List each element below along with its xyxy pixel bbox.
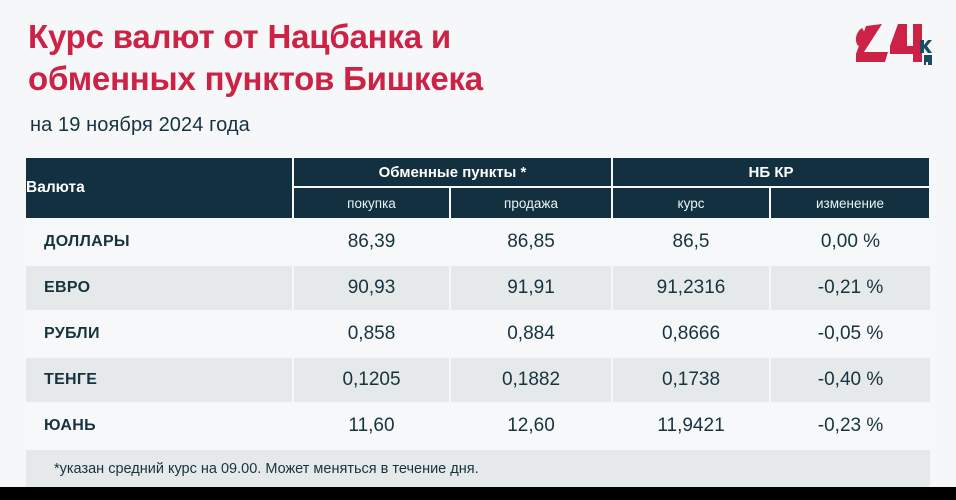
cell-buy: 0,1205: [293, 357, 450, 403]
cell-rate: 11,9421: [612, 403, 770, 449]
cell-change: 0,00 %: [770, 219, 930, 265]
cell-change: -0,40 %: [770, 357, 930, 403]
cell-buy: 0,858: [293, 311, 450, 357]
cell-buy: 90,93: [293, 265, 450, 311]
cell-currency: ДОЛЛАРЫ: [26, 219, 293, 265]
cell-rate: 86,5: [612, 219, 770, 265]
column-header-sell: продажа: [450, 187, 612, 219]
table-row: ЕВРО 90,93 91,91 91,2316 -0,21 %: [26, 265, 930, 311]
table-header: Валюта Обменные пункты * НБ КР покупка п…: [26, 157, 930, 219]
table-footnote-row: *указан средний курс на 09.00. Может мен…: [26, 449, 930, 490]
column-group-exchange-offices: Обменные пункты *: [293, 157, 612, 187]
24kg-logo: [852, 18, 932, 70]
table-footnote: *указан средний курс на 09.00. Может мен…: [26, 449, 930, 490]
table-body: ДОЛЛАРЫ 86,39 86,85 86,5 0,00 % ЕВРО 90,…: [26, 219, 930, 449]
column-header-change: изменение: [770, 187, 930, 219]
column-header-rate: курс: [612, 187, 770, 219]
cell-sell: 0,1882: [450, 357, 612, 403]
cell-change: -0,23 %: [770, 403, 930, 449]
cell-currency: ЕВРО: [26, 265, 293, 311]
currency-rates-infographic: Курс валют от Нацбанка и обменных пункто…: [0, 0, 956, 500]
bottom-bar: [0, 487, 956, 500]
table-footer: *указан средний курс на 09.00. Может мен…: [26, 449, 930, 490]
cell-rate: 0,1738: [612, 357, 770, 403]
page-title: Курс валют от Нацбанка и обменных пункто…: [28, 16, 668, 100]
table-row: ДОЛЛАРЫ 86,39 86,85 86,5 0,00 %: [26, 219, 930, 265]
cell-change: -0,21 %: [770, 265, 930, 311]
cell-sell: 91,91: [450, 265, 612, 311]
cell-currency: ТЕНГЕ: [26, 357, 293, 403]
cell-sell: 86,85: [450, 219, 612, 265]
cell-currency: ЮАНЬ: [26, 403, 293, 449]
cell-change: -0,05 %: [770, 311, 930, 357]
logo-number-24: [856, 24, 922, 62]
cell-rate: 0,8666: [612, 311, 770, 357]
cell-buy: 11,60: [293, 403, 450, 449]
cell-buy: 86,39: [293, 219, 450, 265]
page-subtitle: на 19 ноября 2024 года: [30, 114, 928, 137]
rates-table-container: Валюта Обменные пункты * НБ КР покупка п…: [26, 156, 930, 491]
rates-table: Валюта Обменные пункты * НБ КР покупка п…: [26, 156, 931, 491]
table-header-row-groups: Валюта Обменные пункты * НБ КР: [26, 157, 930, 187]
column-header-currency: Валюта: [26, 157, 293, 219]
table-row: РУБЛИ 0,858 0,884 0,8666 -0,05 %: [26, 311, 930, 357]
column-group-national-bank: НБ КР: [612, 157, 930, 187]
cell-rate: 91,2316: [612, 265, 770, 311]
column-header-buy: покупка: [293, 187, 450, 219]
table-row: ТЕНГЕ 0,1205 0,1882 0,1738 -0,40 %: [26, 357, 930, 403]
cell-currency: РУБЛИ: [26, 311, 293, 357]
cell-sell: 0,884: [450, 311, 612, 357]
table-row: ЮАНЬ 11,60 12,60 11,9421 -0,23 %: [26, 403, 930, 449]
cell-sell: 12,60: [450, 403, 612, 449]
header: Курс валют от Нацбанка и обменных пункто…: [28, 16, 928, 137]
